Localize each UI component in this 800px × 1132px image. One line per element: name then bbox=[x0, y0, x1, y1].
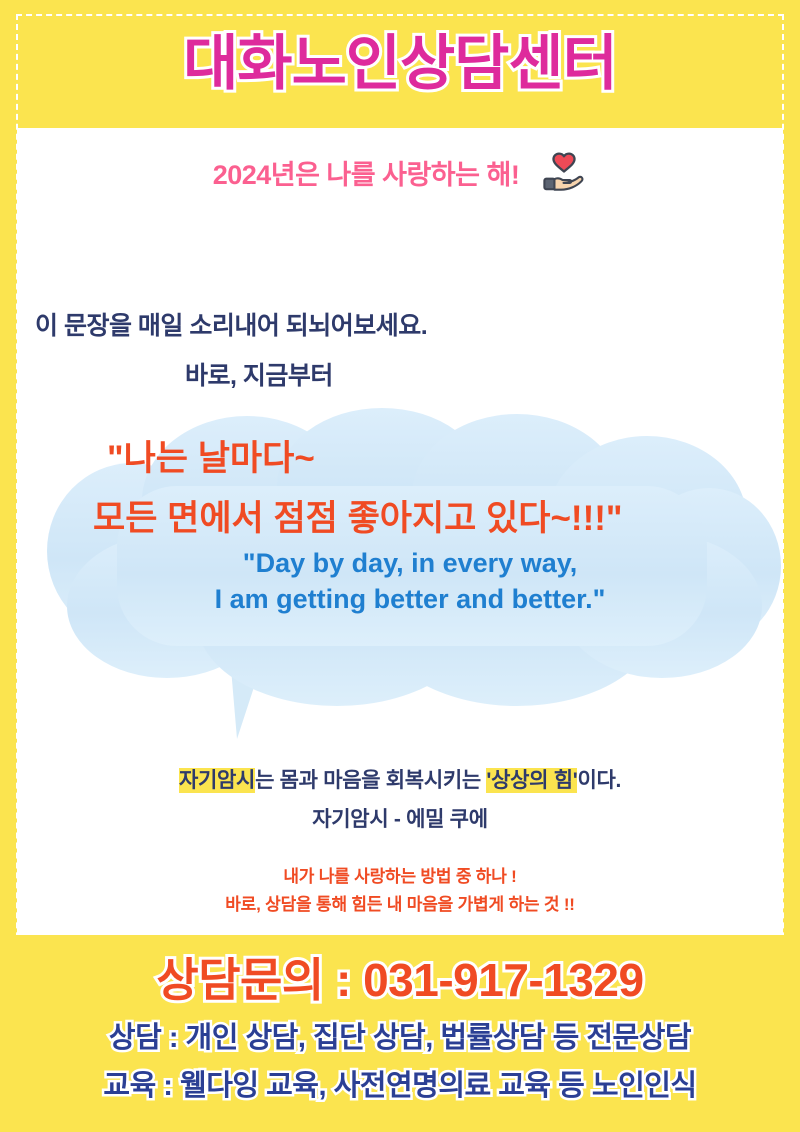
closing-line-1: 내가 나를 사랑하는 방법 중 하나 ! bbox=[17, 862, 783, 887]
page-title: 대화노인상담센터 bbox=[183, 34, 617, 94]
footer-band: 상담문의 : 031-917-1329 상담 : 개인 상담, 집단 상담, 법… bbox=[0, 935, 800, 1132]
cloud-speech-bubble bbox=[37, 391, 783, 751]
closing-line-2: 바로, 상담을 통해 힘든 내 마음을 가볍게 하는 것 !! bbox=[17, 890, 783, 915]
header-band: 대화노인상담센터 bbox=[0, 0, 800, 128]
attribution-text-end: 이다. bbox=[577, 769, 621, 792]
attribution-highlight-term: 자기암시 bbox=[179, 768, 255, 793]
service-line-counseling: 상담 : 개인 상담, 집단 상담, 법률상담 등 전문상담 bbox=[0, 1024, 800, 1053]
subtitle-text: 2024년은 나를 사랑하는 해! bbox=[213, 153, 520, 192]
service-line-education: 교육 : 웰다잉 교육, 사전연명의료 교육 등 노인인식 bbox=[0, 1072, 800, 1101]
attribution-definition: 자기암시는 몸과 마음을 회복시키는 '상상의 힘'이다. bbox=[17, 764, 783, 794]
main-content-panel: 2024년은 나를 사랑하는 해! 이 문장을 매일 소리내어 되뇌어보세요. … bbox=[17, 128, 783, 935]
lead-line-primary: 이 문장을 매일 소리내어 되뇌어보세요. bbox=[35, 306, 427, 342]
contact-phone-line[interactable]: 상담문의 : 031-917-1329 bbox=[0, 957, 800, 1003]
lead-line-secondary: 바로, 지금부터 bbox=[185, 356, 333, 392]
attribution-highlight-power: '상상의 힘' bbox=[486, 768, 577, 793]
hand-holding-heart-icon bbox=[541, 150, 587, 194]
subtitle-row: 2024년은 나를 사랑하는 해! bbox=[17, 150, 783, 194]
attribution-text-mid: 는 몸과 마음을 회복시키는 bbox=[255, 769, 486, 792]
attribution-source: 자기암시 - 에밀 쿠에 bbox=[17, 803, 783, 833]
poster-root: 대화노인상담센터 2024년은 나를 사랑하는 해! 이 문장을 매일 소리내어… bbox=[0, 0, 800, 1132]
